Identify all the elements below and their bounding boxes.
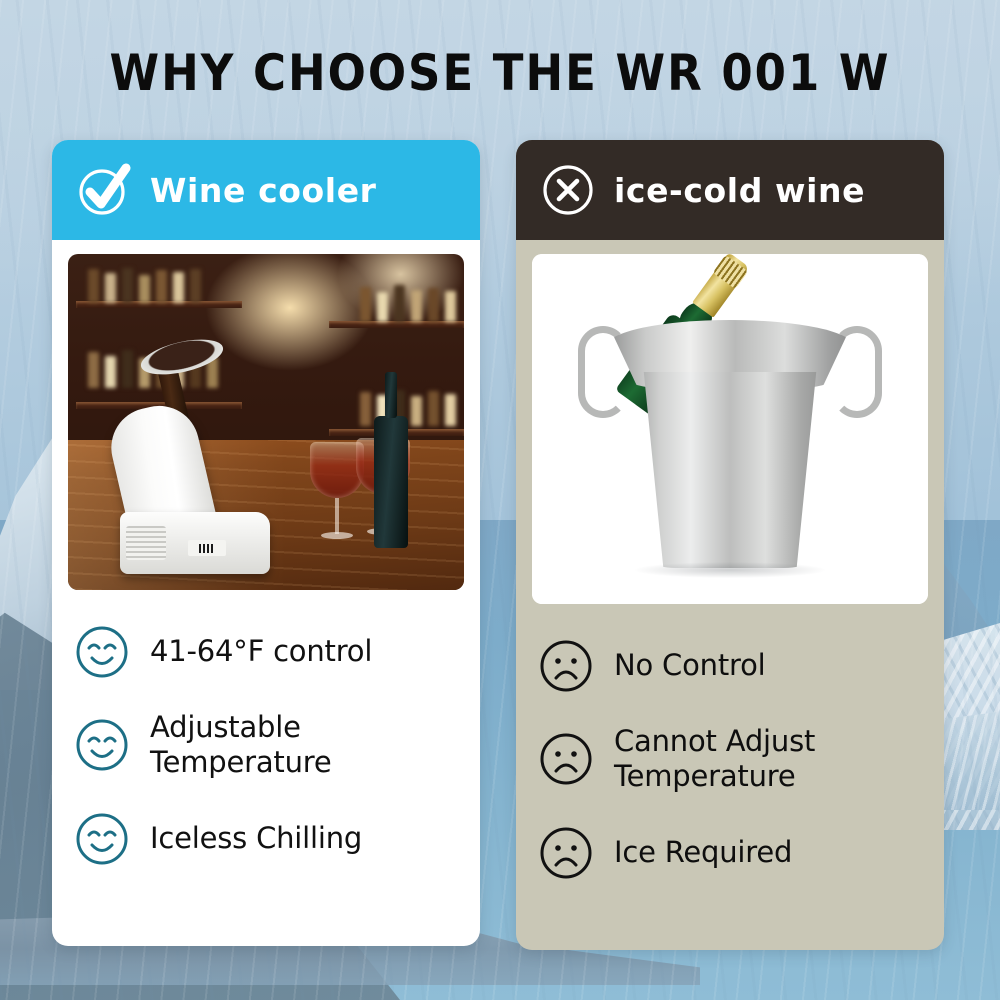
- feature-label: Ice Required: [614, 835, 792, 870]
- feature-item: Cannot Adjust Temperature: [538, 724, 922, 795]
- sad-face-icon: [538, 825, 594, 881]
- wine-cooler-feature-list: 41-64°F control Adjustable Temperature: [52, 590, 480, 946]
- shelf-bottles: [88, 267, 201, 303]
- ice-bucket-scene: [532, 254, 928, 604]
- ice-bucket-photo: [532, 254, 928, 604]
- shelf-bottles: [360, 284, 456, 322]
- ice-cold-wine-card: ice-cold wine: [516, 140, 944, 950]
- sad-face-icon: [538, 731, 594, 787]
- feature-item: Adjustable Temperature: [74, 710, 458, 781]
- feature-label: No Control: [614, 648, 765, 683]
- feature-label: Adjustable Temperature: [150, 710, 332, 781]
- bucket-shadow: [635, 562, 825, 578]
- feature-item: 41-64°F control: [74, 624, 458, 680]
- ice-cold-wine-card-header: ice-cold wine: [516, 140, 944, 240]
- comparison-columns: Wine cooler: [52, 140, 944, 946]
- smiley-face-icon: [74, 624, 130, 680]
- wine-cooler-photo-wrap: [52, 240, 480, 590]
- wine-cooler-vent: [126, 526, 166, 560]
- bucket-body: [632, 372, 828, 568]
- page-title: WHY CHOOSE THE WR 001 W: [50, 44, 950, 102]
- ice-cold-wine-feature-list: No Control Cannot Adjust Temperature: [516, 604, 944, 950]
- feature-label: 41-64°F control: [150, 634, 372, 669]
- feature-label: Iceless Chilling: [150, 821, 362, 856]
- feature-item: No Control: [538, 638, 922, 694]
- smiley-face-icon: [74, 811, 130, 867]
- feature-item: Iceless Chilling: [74, 811, 458, 867]
- wine-cooler-card-title: Wine cooler: [150, 171, 377, 210]
- shelf: [329, 321, 464, 328]
- sad-face-icon: [538, 638, 594, 694]
- smiley-face-icon: [74, 717, 130, 773]
- wine-cooler-display: [188, 540, 226, 556]
- ice-cold-wine-card-title: ice-cold wine: [614, 171, 865, 210]
- feature-label: Cannot Adjust Temperature: [614, 724, 815, 795]
- wine-cooler-card-header: Wine cooler: [52, 140, 480, 240]
- x-circle-icon: [540, 162, 596, 218]
- wine-cooler-photo: [68, 254, 464, 590]
- wine-cooler-card: Wine cooler: [52, 140, 480, 946]
- dark-wine-bottle: [374, 416, 408, 548]
- check-circle-icon: [76, 162, 132, 218]
- feature-item: Ice Required: [538, 825, 922, 881]
- ice-bucket-photo-wrap: [516, 240, 944, 604]
